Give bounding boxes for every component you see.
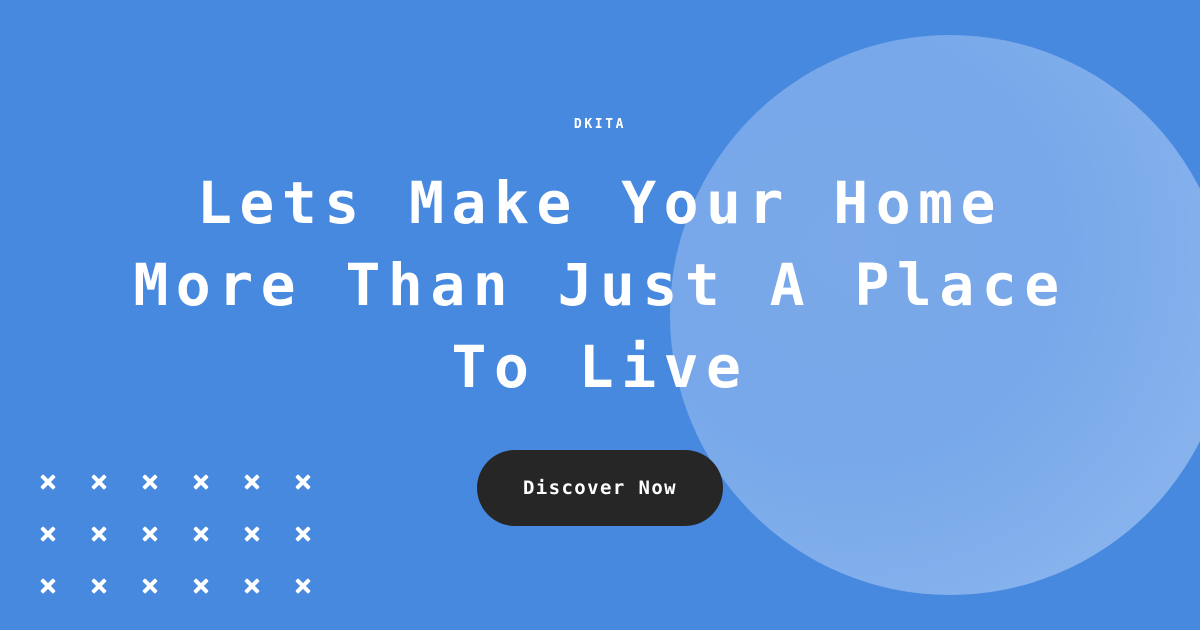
headline-line-1: Lets Make Your Home bbox=[0, 162, 1200, 244]
x-mark-icon bbox=[90, 577, 108, 595]
hero-banner: DKITA Lets Make Your Home More Than Just… bbox=[0, 0, 1200, 630]
x-mark-icon bbox=[294, 577, 312, 595]
headline-line-2: More Than Just A Place bbox=[0, 244, 1200, 326]
x-mark-decoration-grid bbox=[39, 473, 345, 629]
x-mark-icon bbox=[141, 525, 159, 543]
x-mark-icon bbox=[39, 525, 57, 543]
headline-line-3: To Live bbox=[0, 326, 1200, 408]
x-mark-icon bbox=[141, 577, 159, 595]
x-mark-icon bbox=[39, 473, 57, 491]
x-mark-icon bbox=[243, 473, 261, 491]
x-mark-icon bbox=[243, 525, 261, 543]
x-mark-icon bbox=[192, 525, 210, 543]
discover-now-button[interactable]: Discover Now bbox=[477, 450, 723, 526]
x-mark-icon bbox=[294, 525, 312, 543]
brand-name: DKITA bbox=[574, 118, 626, 131]
page-title: Lets Make Your Home More Than Just A Pla… bbox=[0, 162, 1200, 408]
x-mark-icon bbox=[141, 473, 159, 491]
x-mark-icon bbox=[294, 473, 312, 491]
x-mark-icon bbox=[192, 473, 210, 491]
x-mark-icon bbox=[39, 577, 57, 595]
x-mark-icon bbox=[90, 473, 108, 491]
x-mark-icon bbox=[90, 525, 108, 543]
x-mark-icon bbox=[243, 577, 261, 595]
x-mark-icon bbox=[192, 577, 210, 595]
